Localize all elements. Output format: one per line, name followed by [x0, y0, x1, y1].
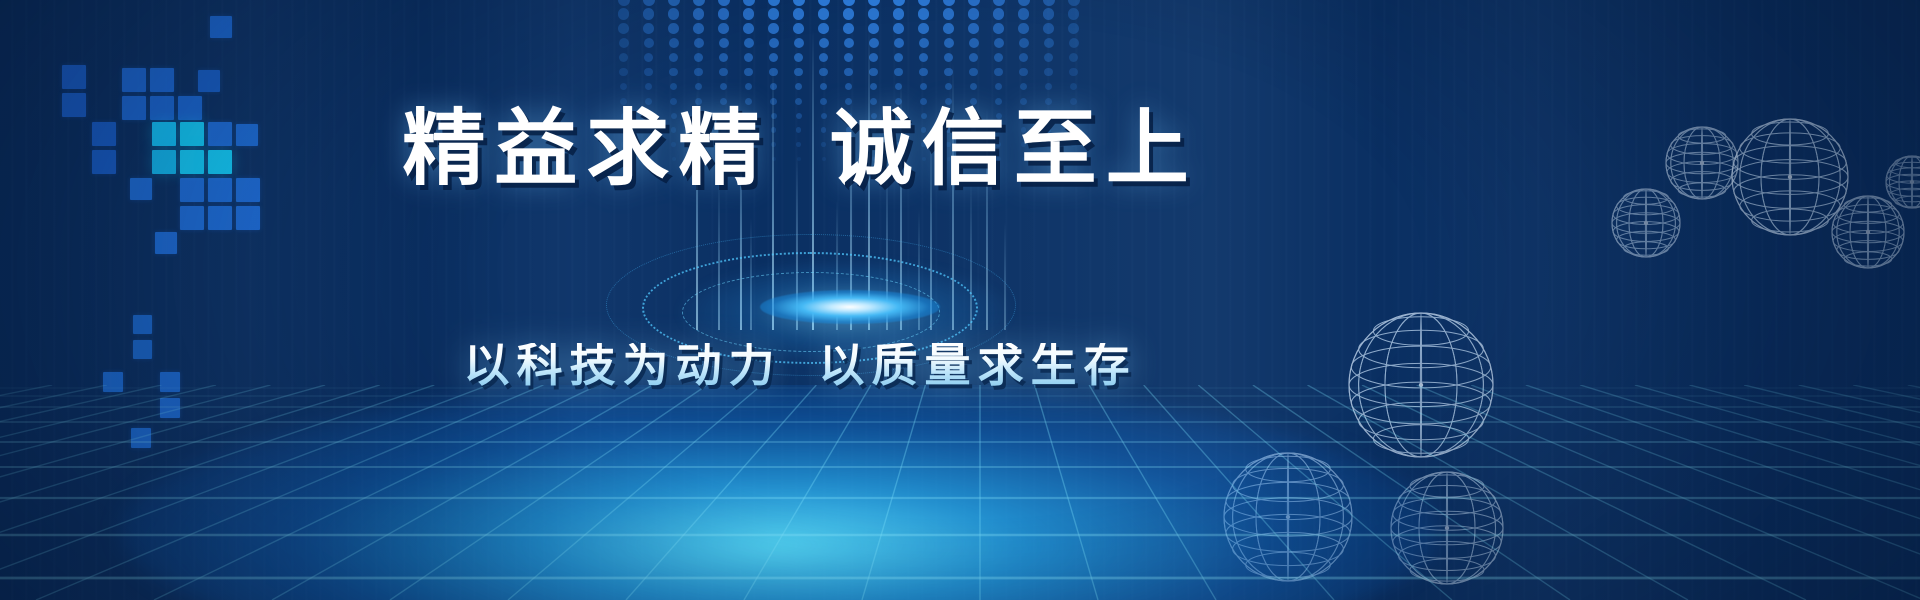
halftone-dot [994, 53, 1003, 62]
halftone-dot [894, 53, 903, 62]
halftone-dot [1043, 23, 1054, 34]
halftone-dot [719, 68, 728, 77]
halftone-dot [695, 83, 703, 91]
mosaic-cell [210, 16, 232, 38]
halftone-dot [669, 38, 679, 48]
halftone-dot [818, 23, 829, 34]
light-beam [918, 210, 920, 330]
halftone-dot [844, 38, 854, 48]
halftone-dot [1019, 38, 1029, 48]
halftone-dot [744, 68, 753, 77]
mosaic-cell [160, 398, 180, 418]
halftone-dot [793, 8, 805, 20]
halftone-dot [968, 23, 979, 34]
halftone-dot [1044, 68, 1053, 77]
halftone-dot [918, 0, 930, 6]
halftone-dot [718, 0, 730, 6]
halftone-dot [943, 23, 954, 34]
halftone-dot [668, 23, 679, 34]
halftone-dot [693, 8, 705, 20]
halftone-dot [894, 68, 903, 77]
mosaic-cell [180, 206, 204, 230]
mosaic-cell [150, 68, 174, 92]
halftone-dot [844, 68, 853, 77]
halftone-dot [869, 38, 879, 48]
halftone-dot [794, 38, 804, 48]
mosaic-cell [62, 65, 86, 89]
halftone-dot [719, 53, 728, 62]
halftone-dot [920, 83, 928, 91]
mosaic-cell [131, 428, 151, 448]
halftone-dot [745, 83, 753, 91]
halftone-dot [1020, 83, 1028, 91]
mosaic-cell [208, 206, 232, 230]
halftone-dot [1068, 8, 1080, 20]
floor-glow [120, 385, 1440, 600]
halftone-dot [1068, 0, 1080, 6]
halftone-dot [744, 53, 753, 62]
light-beam [750, 218, 752, 330]
halftone-dot [1018, 8, 1030, 20]
halftone-dot [719, 38, 729, 48]
halftone-dot [869, 53, 878, 62]
halftone-dot [743, 8, 755, 20]
halftone-dot [894, 38, 904, 48]
wireframe-globe [1610, 187, 1682, 259]
halftone-dot [868, 0, 880, 6]
page-title: 精益求精 诚信至上 [0, 108, 1600, 191]
halftone-dot [643, 8, 655, 20]
halftone-dot [943, 8, 955, 20]
halftone-dot [870, 83, 878, 91]
halftone-dot [918, 8, 930, 20]
halftone-dot [768, 23, 779, 34]
halftone-dot [993, 0, 1005, 6]
halftone-dot [1069, 53, 1078, 62]
halftone-dot [718, 8, 730, 20]
halftone-dot [994, 38, 1004, 48]
halftone-dot [993, 23, 1004, 34]
halftone-dot [969, 53, 978, 62]
halftone-dot [1069, 68, 1078, 77]
halftone-dot [844, 53, 853, 62]
halftone-dot [893, 8, 905, 20]
halftone-dot [818, 0, 830, 6]
halftone-dot [795, 83, 803, 91]
halftone-dot [845, 83, 853, 91]
halftone-dot [1069, 38, 1079, 48]
halftone-dot [644, 68, 653, 77]
halftone-dot [793, 0, 805, 6]
halftone-dot [744, 38, 754, 48]
halftone-dot [918, 23, 929, 34]
halftone-dot [694, 38, 704, 48]
halftone-dot [944, 38, 954, 48]
halftone-dot [620, 83, 628, 91]
halftone-dot [794, 68, 803, 77]
portal-core-glow [760, 290, 940, 324]
halftone-dot [1045, 83, 1053, 91]
halftone-dot [693, 0, 705, 6]
halftone-dot [995, 83, 1003, 91]
halftone-dot [794, 53, 803, 62]
mosaic-cell [198, 70, 220, 92]
halftone-dot [1043, 8, 1055, 20]
halftone-dot [619, 53, 628, 62]
halftone-dot [919, 68, 928, 77]
light-beam [836, 200, 838, 330]
halftone-dot [770, 83, 778, 91]
perspective-grid-floor [0, 385, 1920, 600]
halftone-dot [769, 68, 778, 77]
halftone-dot [819, 68, 828, 77]
wireframe-globe [1389, 470, 1505, 586]
floor-grid-lines [0, 385, 1920, 600]
halftone-dot [1070, 83, 1078, 91]
light-wash-overlay [0, 0, 1920, 600]
mosaic-cell [155, 232, 177, 254]
halftone-dot [944, 53, 953, 62]
halftone-dot [769, 53, 778, 62]
page-tagline: 以科技为动力 以质量求生存 [0, 343, 1600, 389]
halftone-dot [1019, 68, 1028, 77]
light-beam [718, 180, 720, 330]
halftone-dot [720, 83, 728, 91]
halftone-dot [1044, 38, 1054, 48]
halftone-dot [694, 68, 703, 77]
halftone-dot [969, 68, 978, 77]
halftone-dot [670, 83, 678, 91]
halftone-dot [895, 83, 903, 91]
light-beam [1004, 222, 1006, 330]
halftone-dot [669, 53, 678, 62]
halftone-dot [843, 23, 854, 34]
halftone-dot [793, 23, 804, 34]
halftone-dot [645, 83, 653, 91]
halftone-dot [743, 23, 754, 34]
halftone-dot [743, 0, 755, 6]
halftone-dot [968, 0, 980, 6]
halftone-dot [818, 8, 830, 20]
halftone-dot [694, 53, 703, 62]
hero-banner: 精益求精 诚信至上 以科技为动力 以质量求生存 [0, 0, 1920, 600]
light-beam [970, 180, 972, 330]
halftone-dot [1019, 53, 1028, 62]
halftone-dot [819, 38, 829, 48]
halftone-dot [1068, 23, 1079, 34]
halftone-dot [1018, 0, 1030, 6]
halftone-dot [893, 23, 904, 34]
halftone-dot [968, 8, 980, 20]
halftone-dot [1044, 53, 1053, 62]
wireframe-globe [1884, 154, 1920, 210]
halftone-dot [869, 68, 878, 77]
halftone-dot [943, 0, 955, 6]
halftone-dot [893, 0, 905, 6]
halftone-dot [969, 38, 979, 48]
halftone-dot [693, 23, 704, 34]
halftone-dot [1043, 0, 1055, 6]
halftone-dot [768, 0, 780, 6]
wireframe-globe [1830, 194, 1906, 270]
mosaic-cell [236, 206, 260, 230]
vertical-streak-texture [0, 0, 1920, 600]
halftone-dot [618, 0, 630, 6]
halftone-dot [945, 83, 953, 91]
halftone-dot [718, 23, 729, 34]
halftone-dot [644, 38, 654, 48]
halftone-dot [618, 23, 629, 34]
halftone-dot [820, 83, 828, 91]
halftone-dot [970, 83, 978, 91]
halftone-dot [619, 38, 629, 48]
halftone-dot [993, 8, 1005, 20]
halftone-dot [768, 8, 780, 20]
wireframe-globe [1730, 117, 1850, 237]
halftone-dot [1018, 23, 1029, 34]
halftone-dot [668, 0, 680, 6]
mosaic-cell [133, 315, 152, 334]
halftone-dot [618, 8, 630, 20]
vignette-overlay [0, 0, 1920, 600]
halftone-dot [643, 23, 654, 34]
halftone-dot [994, 68, 1003, 77]
halftone-dot [769, 38, 779, 48]
halftone-dot [868, 23, 879, 34]
halftone-dot [919, 53, 928, 62]
halftone-dot [868, 8, 880, 20]
halftone-dot [819, 53, 828, 62]
mosaic-cell [122, 68, 146, 92]
halftone-dot [619, 68, 628, 77]
halftone-dot [843, 8, 855, 20]
halftone-dot [944, 68, 953, 77]
halftone-dot [669, 68, 678, 77]
halftone-dot [843, 0, 855, 6]
halftone-dot [919, 38, 929, 48]
halftone-dot [644, 53, 653, 62]
wireframe-globe [1222, 451, 1354, 583]
halftone-dot [643, 0, 655, 6]
halftone-dot [668, 8, 680, 20]
wireframe-globe [1664, 125, 1740, 201]
pixel-mosaic [0, 0, 320, 500]
